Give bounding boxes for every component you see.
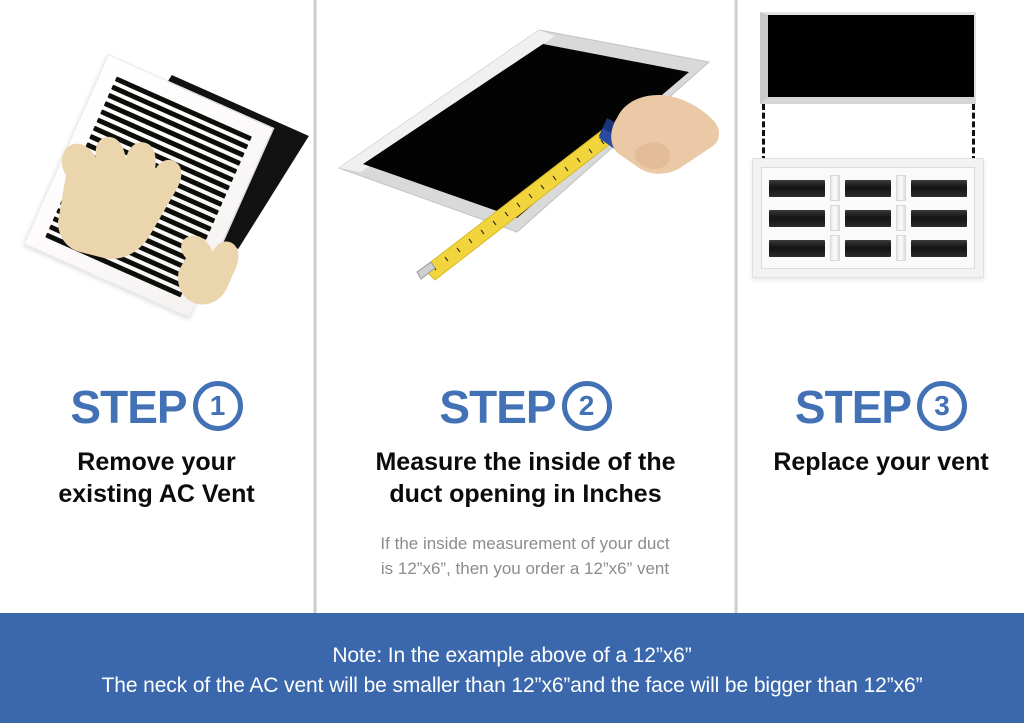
step-caption-line-1: Remove your bbox=[0, 446, 313, 478]
step-number-label: 2 bbox=[567, 386, 607, 426]
duct-measuring-scene bbox=[317, 0, 734, 370]
vent-divider-bar bbox=[830, 235, 840, 261]
step-2-illustration bbox=[317, 0, 734, 370]
replacement-vent bbox=[752, 158, 984, 278]
alignment-guide-right bbox=[972, 104, 975, 162]
louver-segment bbox=[845, 180, 891, 197]
step-caption-line-1: Replace your vent bbox=[738, 446, 1024, 478]
vent-removal-scene bbox=[0, 0, 313, 370]
vent-replacement-scene bbox=[738, 0, 1024, 370]
step-number-badge-3: 3 bbox=[917, 381, 967, 431]
step-number-badge-2: 2 bbox=[562, 381, 612, 431]
step-number-label: 3 bbox=[922, 386, 962, 426]
vent-divider-bar bbox=[830, 205, 840, 231]
vent-divider-bar bbox=[830, 175, 840, 201]
infographic-page: STEP1 Remove your existing AC Vent bbox=[0, 0, 1024, 723]
louver-segment bbox=[911, 240, 967, 257]
step-3-heading: STEP3 bbox=[738, 380, 1024, 434]
louver-row bbox=[766, 176, 970, 200]
ac-vent-plate bbox=[24, 54, 275, 318]
step-2-caption: Measure the inside of the duct opening i… bbox=[317, 446, 734, 510]
step-panel-1: STEP1 Remove your existing AC Vent bbox=[0, 0, 313, 613]
step-caption-line-2: existing AC Vent bbox=[0, 478, 313, 510]
louver-segment bbox=[769, 240, 825, 257]
vent-louver-slats bbox=[45, 76, 252, 297]
subnote-line-2: is 12”x6”, then you order a 12”x6” vent bbox=[325, 557, 725, 582]
step-panel-2: STEP2 Measure the inside of the duct ope… bbox=[317, 0, 734, 613]
step-2-heading: STEP2 bbox=[317, 380, 734, 434]
step-3-caption: Replace your vent bbox=[738, 446, 1024, 478]
banner-line-2: The neck of the AC vent will be smaller … bbox=[102, 671, 923, 701]
step-1-heading: STEP1 bbox=[0, 380, 313, 434]
step-word-label: STEP bbox=[795, 381, 911, 433]
step-number-label: 1 bbox=[198, 386, 238, 426]
alignment-guide-left bbox=[762, 104, 765, 162]
step-word-label: STEP bbox=[70, 381, 186, 433]
vent-divider-bar bbox=[896, 175, 906, 201]
step-3-illustration bbox=[738, 0, 1024, 370]
step-1-illustration bbox=[0, 0, 313, 370]
subnote-line-1: If the inside measurement of your duct bbox=[325, 532, 725, 557]
louver-segment bbox=[845, 210, 891, 227]
louver-segment bbox=[911, 210, 967, 227]
louver-segment bbox=[769, 180, 825, 197]
louver-segment bbox=[769, 210, 825, 227]
step-word-label: STEP bbox=[439, 381, 555, 433]
duct-opening-black bbox=[760, 12, 976, 104]
louver-row bbox=[766, 236, 970, 260]
step-caption-line-1: Measure the inside of the bbox=[317, 446, 734, 478]
banner-line-1: Note: In the example above of a 12”x6” bbox=[332, 641, 691, 671]
step-number-badge-1: 1 bbox=[193, 381, 243, 431]
vent-divider-bar bbox=[896, 205, 906, 231]
louver-segment bbox=[911, 180, 967, 197]
note-banner: Note: In the example above of a 12”x6” T… bbox=[0, 613, 1024, 723]
step-1-caption: Remove your existing AC Vent bbox=[0, 446, 313, 510]
step-2-subnote: If the inside measurement of your duct i… bbox=[325, 532, 725, 581]
step-caption-line-2: duct opening in Inches bbox=[317, 478, 734, 510]
step-panel-3: STEP3 Replace your vent bbox=[738, 0, 1024, 613]
vent-face-inner bbox=[761, 167, 975, 269]
louver-segment bbox=[845, 240, 891, 257]
vent-divider-bar bbox=[896, 235, 906, 261]
louver-row bbox=[766, 206, 970, 230]
